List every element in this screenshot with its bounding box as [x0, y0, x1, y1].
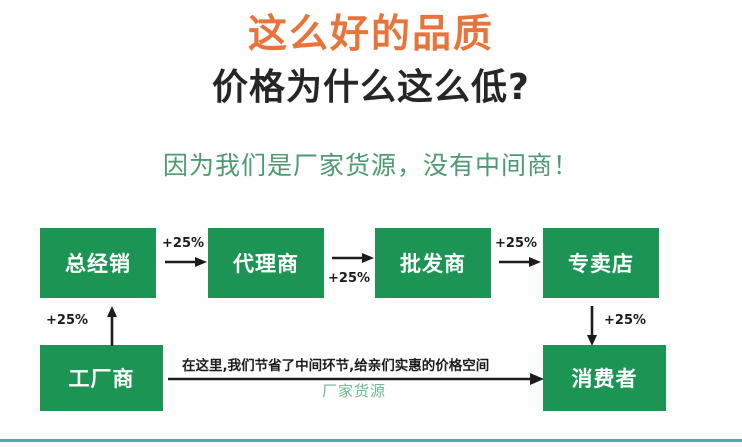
flow-box-label: 批发商 — [400, 248, 466, 278]
flow-box-label: 工厂商 — [69, 363, 135, 393]
flow-box-label: 总经销 — [65, 248, 131, 278]
arrow-right-icon-2 — [332, 252, 374, 264]
flow-box-label: 专卖店 — [568, 248, 634, 278]
flow-box-general-distributor: 总经销 — [40, 228, 156, 298]
arrow-right-icon-1 — [165, 256, 207, 268]
bottom-accent-rule — [0, 439, 742, 442]
savings-note-secondary: 厂家货源 — [322, 380, 386, 401]
arrow-down-icon — [586, 306, 598, 346]
markup-label-3: +25% — [495, 236, 537, 251]
flow-box-exclusive-store: 专卖店 — [543, 228, 659, 298]
markup-label-1: +25% — [162, 236, 204, 251]
markup-label-5: +25% — [604, 313, 646, 328]
headline-tagline: 因为我们是厂家货源，没有中间商！ — [0, 150, 742, 182]
promo-banner: 这么好的品质 价格为什么这么低? 因为我们是厂家货源，没有中间商！ 总经销 代理… — [0, 0, 742, 447]
arrow-right-icon-3 — [499, 256, 541, 268]
flow-box-factory: 工厂商 — [40, 345, 163, 411]
markup-label-2: +25% — [328, 271, 370, 286]
headline-secondary: 价格为什么这么低? — [0, 66, 742, 110]
markup-label-4: +25% — [46, 313, 88, 328]
flow-box-consumer: 消费者 — [543, 345, 666, 411]
flow-box-label: 消费者 — [572, 363, 638, 393]
arrow-up-icon — [106, 306, 118, 346]
headline-primary: 这么好的品质 — [0, 12, 742, 58]
flow-box-agent: 代理商 — [208, 228, 324, 298]
flow-box-wholesaler: 批发商 — [375, 228, 491, 298]
flow-box-label: 代理商 — [233, 248, 299, 278]
